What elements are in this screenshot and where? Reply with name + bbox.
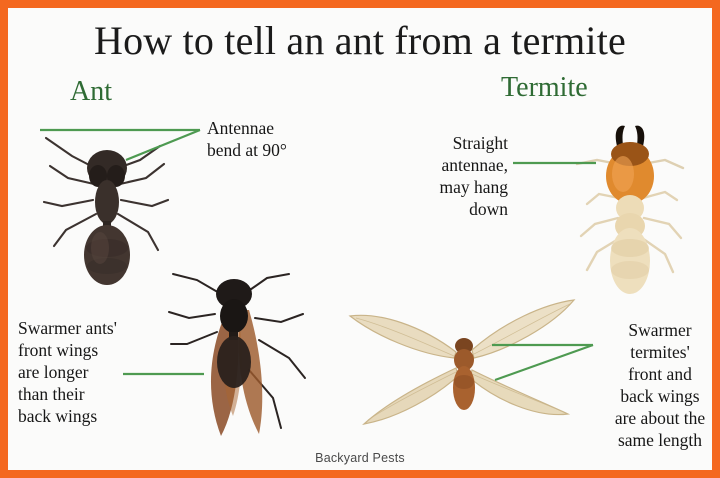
callout-line: bend at 90° xyxy=(207,139,357,161)
callout-ant-wings: Swarmer ants' front wings are longer tha… xyxy=(18,317,168,427)
watermark-credit: Backyard Pests xyxy=(8,451,712,465)
callout-line: back wings xyxy=(600,385,720,407)
callout-line: Antennae xyxy=(207,117,357,139)
callout-line: are about the xyxy=(600,407,720,429)
column-heading-termite: Termite xyxy=(501,72,588,104)
callout-line: front and xyxy=(600,363,720,385)
callout-line: same length xyxy=(600,429,720,451)
callout-line: Straight xyxy=(393,132,508,154)
callout-line: than their xyxy=(18,383,168,405)
callout-line: are longer xyxy=(18,361,168,383)
callout-ant-antennae: Antennae bend at 90° xyxy=(207,117,357,161)
soldier-termite-photo xyxy=(573,120,688,300)
worker-ant-photo xyxy=(32,120,182,295)
infographic-poster: How to tell an ant from a termite Ant Te… xyxy=(0,0,720,478)
callout-line: may hang xyxy=(393,176,508,198)
swarmer-ant-photo xyxy=(163,266,328,456)
callout-line: down xyxy=(393,198,508,220)
callout-termite-antennae: Straight antennae, may hang down xyxy=(393,132,508,220)
callout-line: front wings xyxy=(18,339,168,361)
page-title: How to tell an ant from a termite xyxy=(8,18,712,64)
callout-line: Swarmer ants' xyxy=(18,317,168,339)
callout-line: back wings xyxy=(18,405,168,427)
callout-line: Swarmer xyxy=(600,319,720,341)
callout-line: antennae, xyxy=(393,154,508,176)
column-heading-ant: Ant xyxy=(70,76,112,108)
swarmer-termite-photo xyxy=(346,296,581,428)
callout-line: termites' xyxy=(600,341,720,363)
callout-termite-wings: Swarmer termites' front and back wings a… xyxy=(600,319,720,451)
